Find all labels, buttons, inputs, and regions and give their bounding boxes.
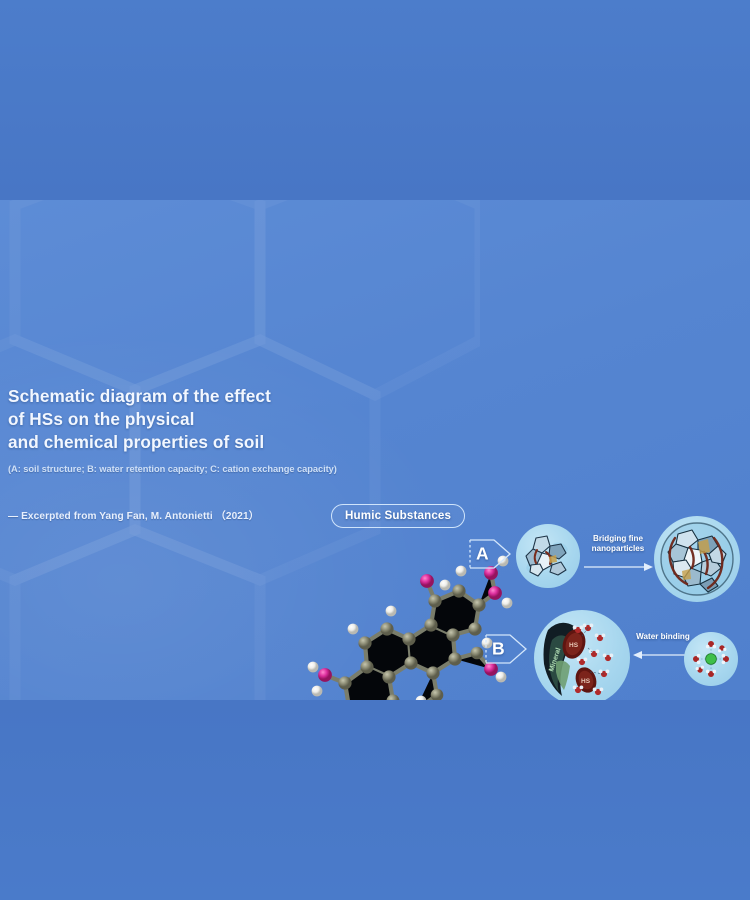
bottom-letterbox-band [0, 700, 750, 900]
letter-a-glyph: A [476, 544, 489, 565]
letter-b-glyph: B [492, 639, 505, 660]
circle-soil-aggregate-loose [516, 524, 580, 588]
poster-canvas: Schematic diagram of the effect of HSs o… [0, 0, 750, 900]
flow-label-a: Bridging fine nanoparticles [580, 534, 656, 554]
letter-badge-a: A [468, 534, 512, 574]
svg-text:HS: HS [581, 678, 591, 685]
flow-arrow-a [582, 560, 654, 574]
flow-label-b: Water binding [628, 632, 698, 642]
attribution-credit: — Excerpted from Yang Fan, M. Antonietti… [8, 507, 338, 522]
subtitle-legend: (A: soil structure; B: water retention c… [8, 463, 338, 476]
text-block: Schematic diagram of the effect of HSs o… [8, 385, 338, 522]
svg-text:HS: HS [569, 642, 579, 649]
circle-soil-aggregate-bound [654, 516, 740, 602]
circle-mineral-hs-water-complex: Mineral HS HS [534, 610, 630, 700]
page-title: Schematic diagram of the effect of HSs o… [8, 385, 338, 454]
top-letterbox-band [0, 0, 750, 200]
letter-badge-b: B [484, 629, 528, 669]
content-band: Schematic diagram of the effect of HSs o… [0, 200, 750, 700]
circle-hydrated-cation [684, 632, 738, 686]
